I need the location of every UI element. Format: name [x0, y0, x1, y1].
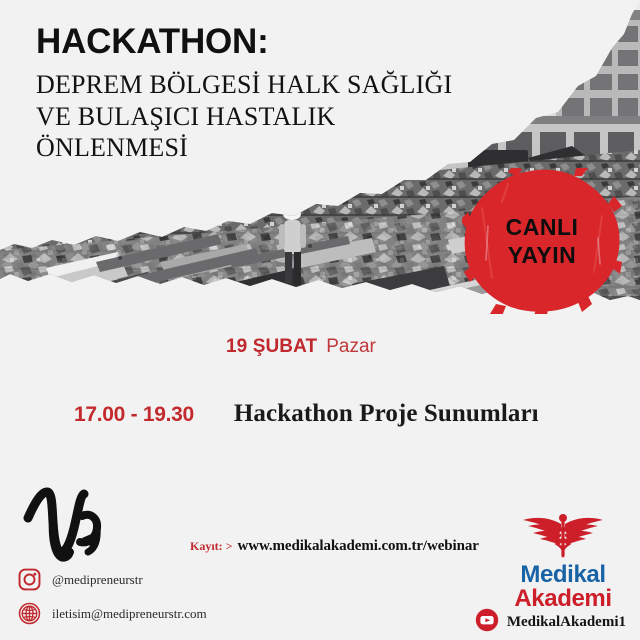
subtitle-line-1: DEPREM BÖLGESİ HALK SAĞLIĞI: [36, 69, 516, 101]
event-date: 19 ŞUBAT: [226, 336, 317, 358]
event-time-row: 17.00 - 19.30 Hackathon Proje Sunumları: [74, 400, 539, 428]
page-title: HACKATHON:: [36, 24, 516, 59]
registration-line: Kayıt: > www.medikalakademi.com.tr/webin…: [190, 538, 479, 555]
poster-canvas: HACKATHON: DEPREM BÖLGESİ HALK SAĞLIĞI V…: [0, 0, 640, 640]
medipreneurs-monogram-icon: [22, 482, 108, 564]
sponsor-name-line-1: Medikal: [520, 563, 605, 587]
subtitle-line-3: ÖNLENMESİ: [36, 132, 516, 164]
youtube-channel-row[interactable]: MedikalAkademi1: [475, 608, 626, 637]
subtitle-line-2: VE BULAŞICI HASTALIK: [36, 101, 516, 133]
caduceus-icon: [517, 512, 609, 563]
contact-email[interactable]: iletisim@medipreneurstr.com: [18, 602, 207, 625]
badge-line-2: YAYIN: [508, 243, 577, 267]
title-block: HACKATHON: DEPREM BÖLGESİ HALK SAĞLIĞI V…: [36, 24, 516, 164]
event-time-range: 17.00 - 19.30: [74, 403, 194, 427]
youtube-handle: MedikalAkademi1: [507, 614, 626, 631]
registration-label: Kayıt: >: [190, 539, 233, 554]
contact-instagram[interactable]: @medipreneurstr: [18, 568, 207, 591]
badge-line-1: CANLI: [506, 215, 579, 239]
email-address: iletisim@medipreneurstr.com: [52, 606, 207, 622]
contact-list: @medipreneurstr iletisim@medipreneurstr.…: [18, 568, 207, 625]
event-date-row: 19 ŞUBAT Pazar: [226, 336, 376, 358]
session-title: Hackathon Proje Sunumları: [234, 400, 539, 428]
globe-icon: [18, 602, 41, 625]
youtube-icon: [475, 608, 499, 637]
instagram-handle: @medipreneurstr: [52, 572, 143, 588]
event-weekday: Pazar: [326, 336, 376, 358]
sponsor-logo: Medikal Akademi: [500, 512, 626, 612]
instagram-icon: [18, 568, 41, 591]
registration-url[interactable]: www.medikalakademi.com.tr/webinar: [238, 538, 479, 555]
live-broadcast-badge: CANLI YAYIN: [462, 168, 622, 314]
